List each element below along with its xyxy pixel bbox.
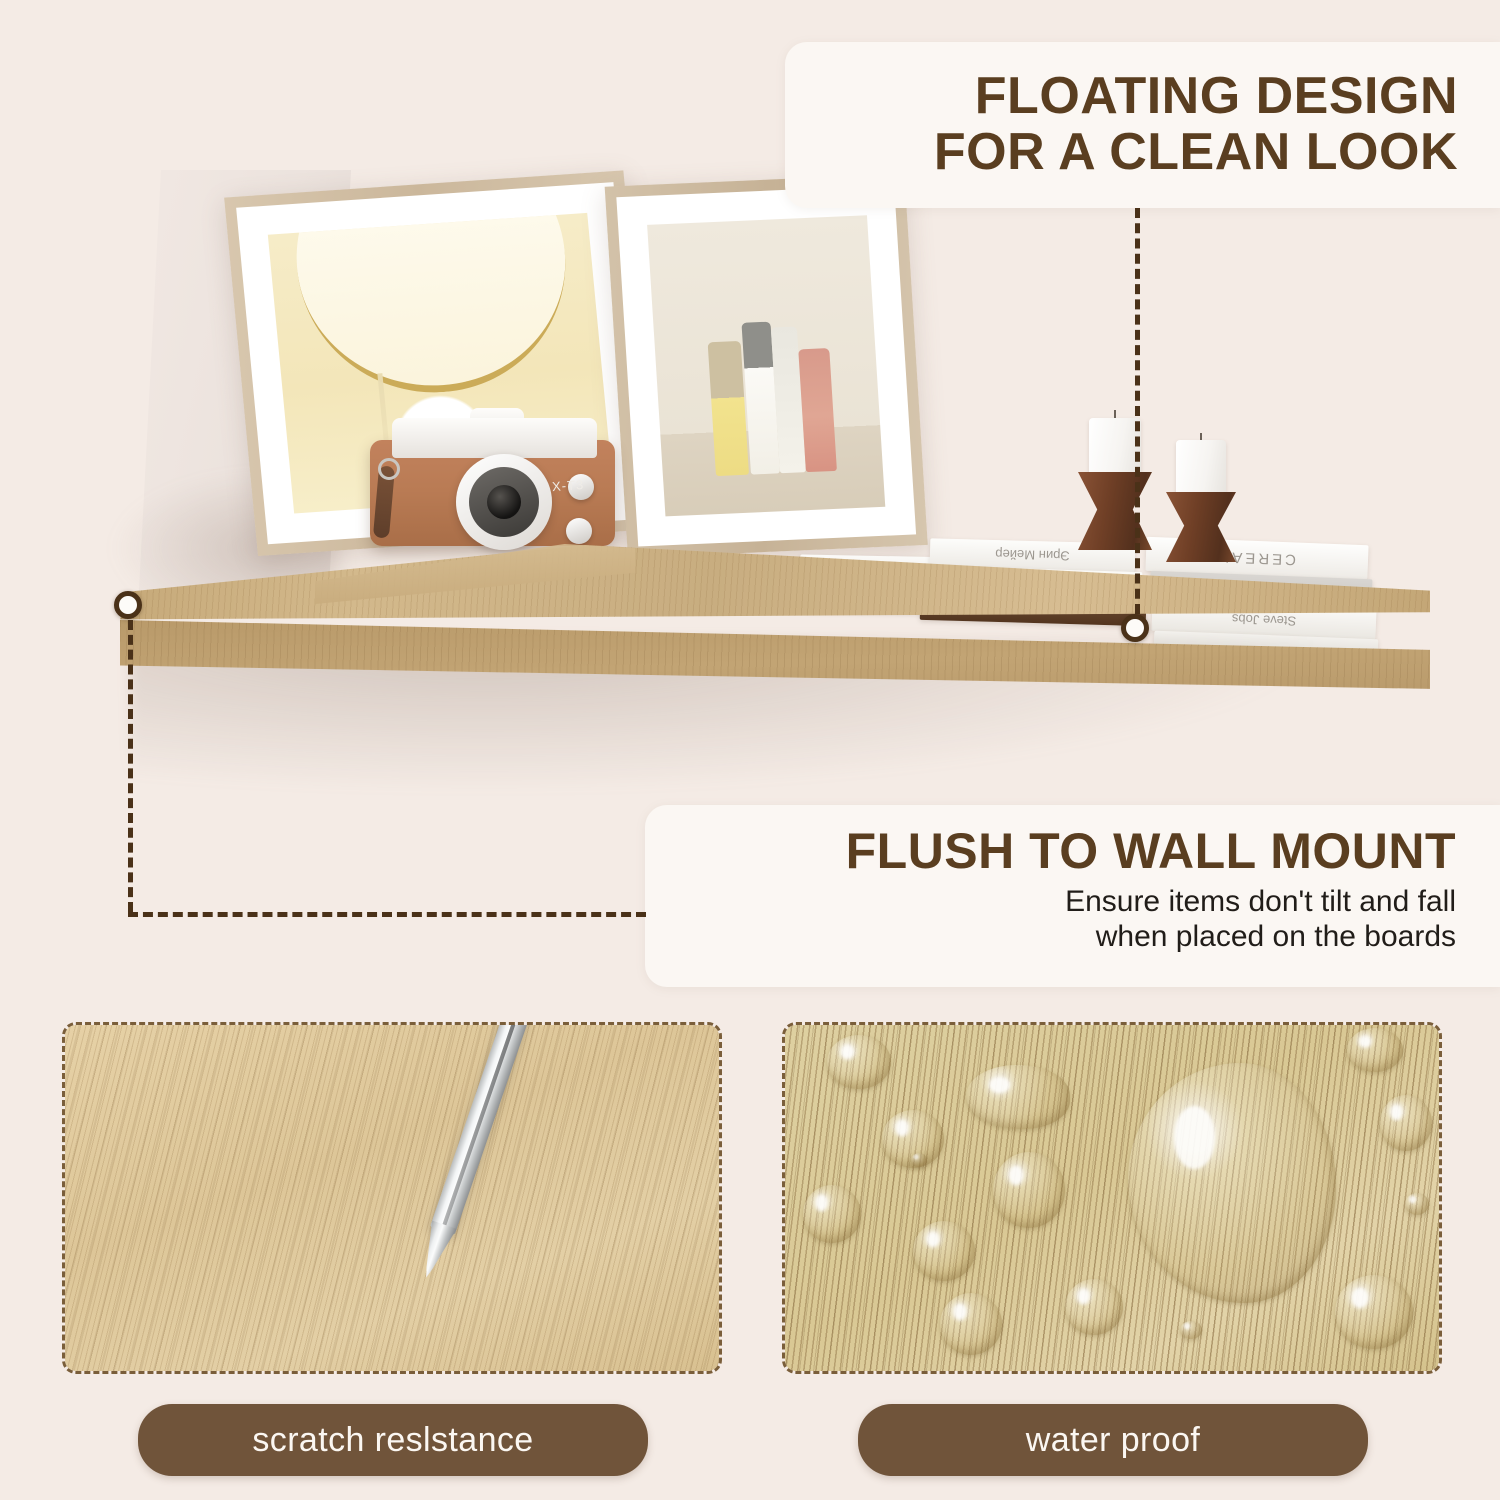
frame-artwork-still-life: [647, 215, 885, 516]
feature-scratch-resistance: [62, 1022, 722, 1374]
callout-title-line2: FOR A CLEAN LOOK: [934, 123, 1458, 181]
feature-water-proof: [782, 1022, 1442, 1374]
water-drop-icon: [993, 1152, 1065, 1228]
water-drop-icon: [1180, 1321, 1202, 1339]
feature-label-water-proof: water proof: [858, 1404, 1368, 1476]
camera-top-plate: [392, 418, 597, 458]
wood-grain-texture: [65, 1025, 719, 1371]
water-drop-icon: [911, 1153, 927, 1167]
feature-panel-water: [782, 1022, 1442, 1374]
callout-title-line1: FLOATING DESIGN: [975, 67, 1458, 125]
floating-oak-shelf: [120, 520, 1430, 770]
artwork-bottle-pink: [798, 348, 836, 472]
callout-subtitle-line2: when placed on the boards: [645, 919, 1456, 954]
water-drop-icon: [1405, 1193, 1429, 1215]
callout-leader-line-left-vertical: [128, 620, 133, 912]
candle-wax: [1176, 440, 1226, 494]
callout-flush-mount: FLUSH TO WALL MOUNT Ensure items don't t…: [645, 805, 1500, 987]
water-drop-icon: [803, 1185, 861, 1243]
camera-strap-ring: [378, 458, 400, 480]
callout-subtitle-line1: Ensure items don't tilt and fall: [645, 884, 1456, 919]
water-drop-icon: [940, 1293, 1002, 1355]
camera-model-label: X-T3: [552, 477, 585, 494]
candle-wax: [1089, 418, 1141, 474]
callout-leader-line-left-horizontal: [128, 912, 646, 917]
callout-floating-design: FLOATING DESIGN FOR A CLEAN LOOK: [785, 42, 1500, 208]
artwork-arch-shape: [284, 213, 577, 402]
feature-label-scratch-resistance: scratch reslstance: [138, 1404, 648, 1476]
callout-leader-line-top: [1135, 208, 1140, 614]
water-drop-icon: [827, 1035, 891, 1089]
callout-title: FLUSH TO WALL MOUNT: [645, 805, 1500, 878]
camera-lens-glass: [487, 485, 521, 519]
feature-panel-scratch: [62, 1022, 722, 1374]
product-feature-graphic: X-T3 Эрин Мейер ИСКУССТВО СТРАТЕГИИ CERE…: [0, 0, 1500, 1500]
callout-dot-marker-right: [1121, 614, 1149, 642]
water-drop-icon: [913, 1221, 975, 1281]
water-drop-icon: [1065, 1279, 1123, 1335]
water-drop-icon: [1347, 1028, 1403, 1072]
water-drop-icon: [966, 1065, 1070, 1129]
callout-dot-marker-left: [114, 591, 142, 619]
water-drop-icon: [1380, 1095, 1432, 1151]
artwork-bottle-yellow: [707, 341, 748, 476]
picture-frame-right: [605, 174, 928, 558]
water-drop-icon: [1335, 1275, 1413, 1349]
callout-title: FLOATING DESIGN FOR A CLEAN LOOK: [785, 42, 1500, 180]
